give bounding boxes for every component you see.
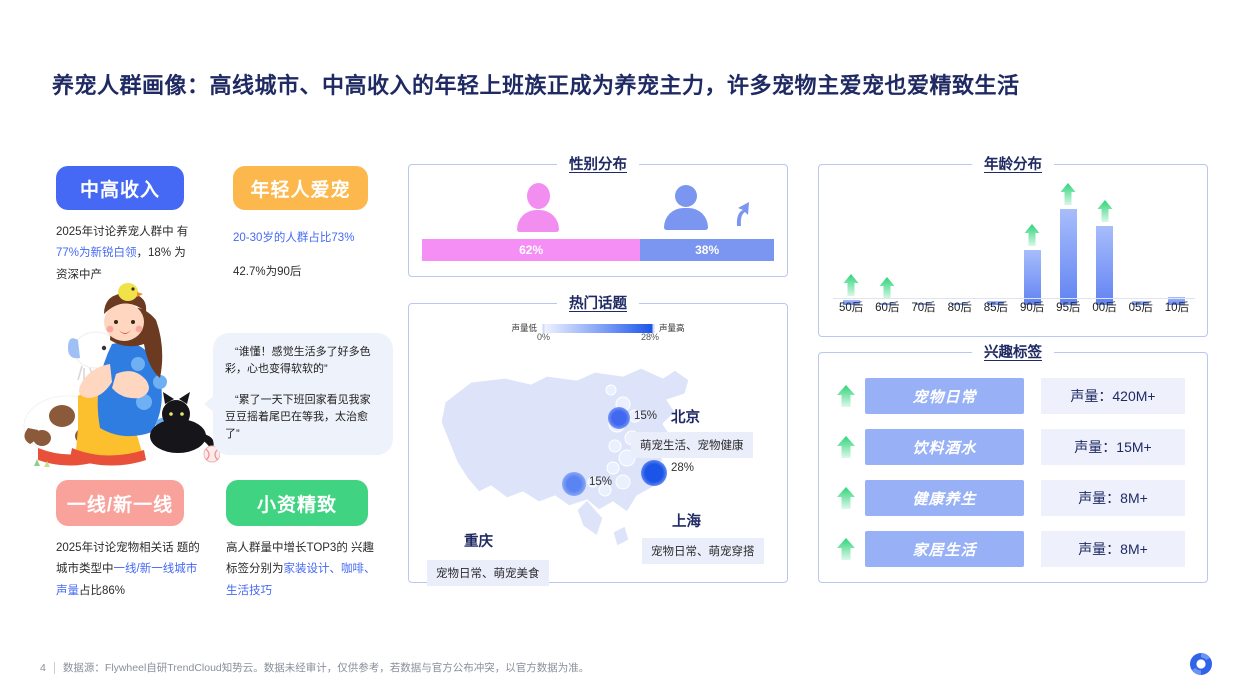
age-bar-column <box>1014 193 1050 305</box>
age-bar-chart <box>833 187 1195 305</box>
card-young-label: 年轻人爱宠 <box>250 175 350 202</box>
age-bar-column <box>905 193 941 305</box>
interest-tag-name: 健康养生 <box>865 480 1024 516</box>
city-tags-beijing: 萌宠生活、宠物健康 <box>631 432 753 458</box>
legend-min-value: 0% <box>537 332 550 342</box>
age-bar-column <box>978 193 1014 305</box>
gender-distribution-panel: 性别分布 62% 38% <box>408 164 788 277</box>
quote-bubble: “谁懂！感觉生活多了好多色彩，心也变得软软的” “累了一天下班回家看见我家豆豆摇… <box>213 333 393 455</box>
taste-line-1: 高人群量中增长TOP3的 <box>226 542 348 554</box>
age-distribution-panel: 年龄分布 50后60后70后80后85后90后95后00后05后10后 <box>818 164 1208 337</box>
age-axis-label: 95后 <box>1050 299 1086 315</box>
interest-tag-value: 声量：8M+ <box>1041 531 1185 567</box>
trend-up-arrow-icon <box>733 201 751 227</box>
card-taste-label: 小资精致 <box>257 490 337 517</box>
income-line-2-highlight: 77%为新锐白领 <box>56 247 137 259</box>
map-dot-beijing[interactable] <box>608 407 630 429</box>
topics-panel-title: 热门话题 <box>557 292 639 313</box>
male-icon <box>664 185 708 230</box>
page-title: 养宠人群画像：高线城市、中高收入的年轻上班族正成为养宠主力，许多宠物主爱宠也爱精… <box>52 68 1020 100</box>
interest-tags-panel: 兴趣标签 宠物日常声量：420M+饮料酒水声量：15M+健康养生声量：8M+家居… <box>818 352 1208 583</box>
green-up-arrow-icon <box>1060 182 1077 206</box>
age-axis-label: 50后 <box>833 299 869 315</box>
age-bar-column <box>1123 193 1159 305</box>
gender-bar-female: 62% <box>422 239 640 261</box>
green-up-arrow-icon <box>843 273 860 297</box>
age-axis-label: 10后 <box>1159 299 1195 315</box>
legend-max-value: 28% <box>641 332 659 342</box>
interest-tag-value: 声量：15M+ <box>1041 429 1185 465</box>
interest-tag-value: 声量：8M+ <box>1041 480 1185 516</box>
age-axis-labels: 50后60后70后80后85后90后95后00后05后10后 <box>833 299 1195 315</box>
city-line-3-post: 占比86% <box>79 585 125 597</box>
slide-root: 养宠人群画像：高线城市、中高收入的年轻上班族正成为养宠主力，许多宠物主爱宠也爱精… <box>0 0 1240 697</box>
age-bar <box>1096 226 1113 305</box>
age-axis-label: 00后 <box>1086 299 1122 315</box>
map-dot-chongqing[interactable] <box>562 472 586 496</box>
interest-tag-row[interactable]: 家居生活声量：8M+ <box>835 530 1191 568</box>
green-up-arrow-icon <box>879 276 896 300</box>
gender-ratio-bar: 62% 38% <box>422 239 774 261</box>
footer: 4 数据源：Flywheel自研TrendCloud知势云。数据未经审计，仅供参… <box>40 660 589 675</box>
green-up-arrow-icon <box>835 486 857 510</box>
green-up-arrow-icon <box>835 384 857 408</box>
income-line-2-post: ，18% <box>137 247 172 259</box>
age-panel-title: 年龄分布 <box>972 153 1054 174</box>
age-axis-label: 85后 <box>978 299 1014 315</box>
age-bar <box>1060 209 1077 305</box>
card-young-badge: 年轻人爱宠 <box>233 166 368 210</box>
interest-tag-name: 饮料酒水 <box>865 429 1024 465</box>
gender-panel-title: 性别分布 <box>557 153 639 174</box>
green-up-arrow-icon <box>1024 223 1041 247</box>
interest-tag-row[interactable]: 健康养生声量：8M+ <box>835 479 1191 517</box>
footer-note: 数据源：Flywheel自研TrendCloud知势云。数据未经审计，仅供参考，… <box>63 660 589 675</box>
city-name-beijing: 北京 <box>671 406 700 427</box>
map-value-beijing: 15% <box>634 410 657 422</box>
city-name-shanghai: 上海 <box>672 510 701 531</box>
card-city-badge: 一线/新一线 <box>56 480 184 526</box>
pet-owner-illustration <box>20 278 220 478</box>
footer-divider <box>54 662 55 674</box>
green-up-arrow-icon <box>835 435 857 459</box>
taste-line-2-highlight: 家装设 <box>284 563 319 575</box>
interest-tag-row[interactable]: 宠物日常声量：420M+ <box>835 377 1191 415</box>
city-line-2-highlight: 一线/新 <box>114 563 152 575</box>
city-name-chongqing: 重庆 <box>464 530 493 551</box>
map-dot-shanghai[interactable] <box>641 460 667 486</box>
card-city-text: 2025年讨论宠物相关话 题的城市类型中一线/新一线城市声量占比86% <box>56 538 206 602</box>
city-line-1: 2025年讨论宠物相关话 <box>56 542 174 554</box>
age-axis-label: 90后 <box>1014 299 1050 315</box>
tags-panel-title: 兴趣标签 <box>972 341 1054 362</box>
age-axis-label: 05后 <box>1123 299 1159 315</box>
young-line-2: 42.7%为90后 <box>233 262 383 283</box>
interest-tag-name: 家居生活 <box>865 531 1024 567</box>
brand-logo-icon <box>1188 651 1214 677</box>
card-income-text: 2025年讨论养宠人群中 有77%为新锐白领，18% 为资深中产 <box>56 222 196 286</box>
hot-topics-panel: 热门话题 声量低 声量高 0% 28% <box>408 303 788 583</box>
age-bar-column <box>1159 193 1195 305</box>
city-tags-chongqing: 宠物日常、萌宠美食 <box>427 560 549 586</box>
map-value-chongqing: 15% <box>589 476 612 488</box>
green-up-arrow-icon <box>1096 199 1113 223</box>
card-taste-text: 高人群量中增长TOP3的 兴趣标签分别为家装设计、咖啡、生活技巧 <box>226 538 376 602</box>
age-bar-column <box>833 193 869 305</box>
age-axis-label: 70后 <box>905 299 941 315</box>
interest-tag-name: 宠物日常 <box>865 378 1024 414</box>
map-value-shanghai: 28% <box>671 462 694 474</box>
age-bar-column <box>942 193 978 305</box>
age-axis-label: 60后 <box>869 299 905 315</box>
age-bar-column <box>869 193 905 305</box>
income-line-2-pre: 有 <box>177 226 189 238</box>
income-line-1: 2025年讨论养宠人群中 <box>56 226 174 238</box>
city-tags-shanghai: 宠物日常、萌宠穿搭 <box>642 538 764 564</box>
interest-tag-rows: 宠物日常声量：420M+饮料酒水声量：15M+健康养生声量：8M+家居生活声量：… <box>835 377 1191 581</box>
quote-2: “累了一天下班回家看见我家豆豆摇着尾巴在等我，太治愈了” <box>225 392 381 443</box>
gender-bar-male: 38% <box>640 239 774 261</box>
china-map[interactable]: 15% 28% 15% 北京 萌宠生活、宠物健康 上海 宠物日常、萌宠穿搭 重庆… <box>419 350 779 576</box>
young-line-1: 20-30岁的人群占比73% <box>233 228 383 249</box>
illustration-svg <box>20 278 220 478</box>
card-income-label: 中高收入 <box>80 175 160 202</box>
age-bar-column <box>1086 193 1122 305</box>
green-up-arrow-icon <box>835 537 857 561</box>
age-axis-label: 80后 <box>942 299 978 315</box>
interest-tag-row[interactable]: 饮料酒水声量：15M+ <box>835 428 1191 466</box>
card-city-label: 一线/新一线 <box>67 490 173 517</box>
female-icon <box>517 183 559 232</box>
page-number: 4 <box>40 662 46 674</box>
quote-1: “谁懂！感觉生活多了好多色彩，心也变得软软的” <box>225 344 381 378</box>
card-income-badge: 中高收入 <box>56 166 184 210</box>
card-taste-badge: 小资精致 <box>226 480 368 526</box>
interest-tag-value: 声量：420M+ <box>1041 378 1185 414</box>
legend-ticks: 0% 28% <box>533 332 663 342</box>
age-bars-container <box>833 193 1195 305</box>
age-bar <box>1024 250 1041 305</box>
card-young-text: 20-30岁的人群占比73% 42.7%为90后 <box>233 228 383 297</box>
gender-icons <box>409 179 787 233</box>
age-bar-column <box>1050 193 1086 305</box>
